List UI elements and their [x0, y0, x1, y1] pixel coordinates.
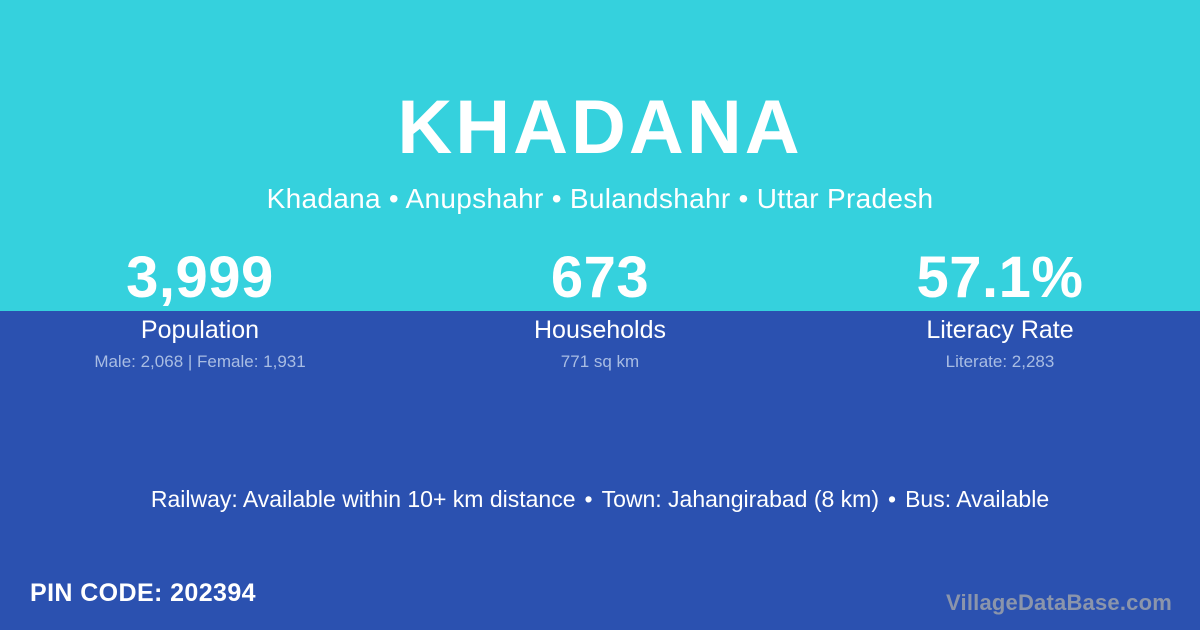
- facts-line: Railway: Available within 10+ km distanc…: [0, 484, 1200, 514]
- stat-literacy-rate: 57.1% Literacy Rate Literate: 2,283: [800, 246, 1200, 373]
- stats-row: 3,999 Population Male: 2,068 | Female: 1…: [0, 246, 1200, 373]
- page-title: KHADANA: [0, 82, 1200, 174]
- village-info-card: KHADANA Khadana • Anupshahr • Bulandshah…: [0, 0, 1200, 630]
- fact-bus: Bus: Available: [905, 486, 1049, 512]
- fact-town: Town: Jahangirabad (8 km): [602, 486, 879, 512]
- brand-watermark: VillageDataBase.com: [946, 589, 1172, 617]
- stat-value-literacy-rate: 57.1%: [800, 246, 1200, 310]
- stat-value-households: 673: [400, 246, 800, 310]
- stat-label-population: Population: [0, 315, 400, 345]
- breadcrumb: Khadana • Anupshahr • Bulandshahr • Utta…: [0, 182, 1200, 216]
- pin-code: PIN CODE: 202394: [30, 577, 256, 609]
- fact-separator-icon: •: [576, 484, 602, 514]
- card-footer: PIN CODE: 202394 VillageDataBase.com: [0, 572, 1200, 630]
- stat-label-literacy-rate: Literacy Rate: [800, 315, 1200, 345]
- stat-value-population: 3,999: [0, 246, 400, 310]
- stat-label-households: Households: [400, 315, 800, 345]
- fact-separator-icon: •: [879, 484, 905, 514]
- stat-sub-literacy-rate: Literate: 2,283: [800, 351, 1200, 373]
- stat-sub-households: 771 sq km: [400, 351, 800, 373]
- stat-households: 673 Households 771 sq km: [400, 246, 800, 373]
- stat-population: 3,999 Population Male: 2,068 | Female: 1…: [0, 246, 400, 373]
- fact-railway: Railway: Available within 10+ km distanc…: [151, 486, 576, 512]
- stat-sub-population: Male: 2,068 | Female: 1,931: [0, 351, 400, 373]
